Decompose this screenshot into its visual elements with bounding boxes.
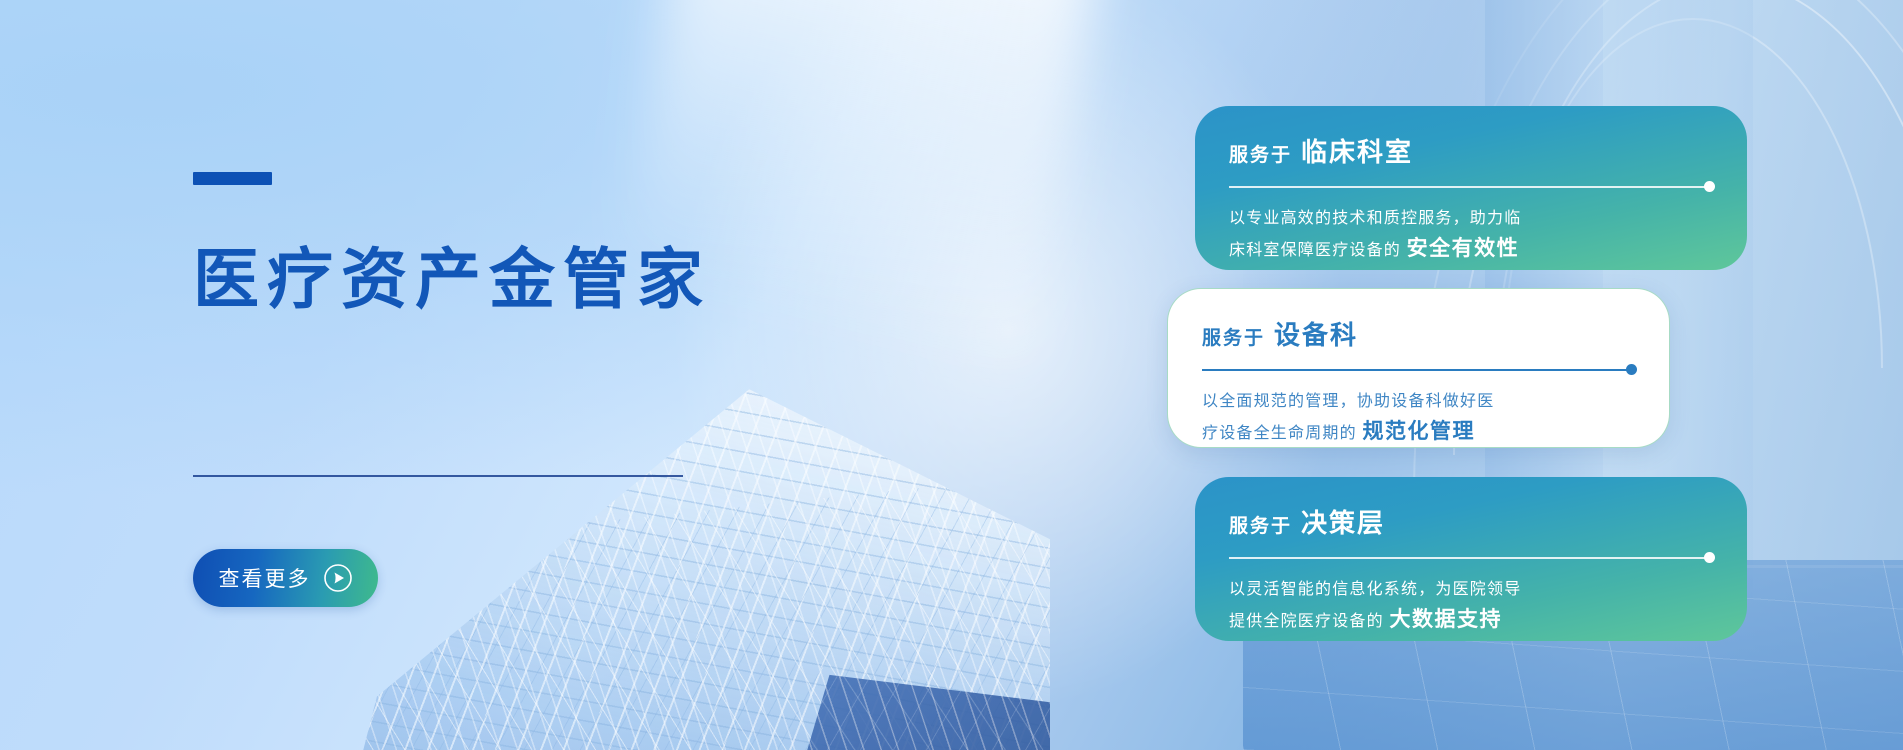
card-target: 设备科 [1274, 315, 1358, 352]
circle-play-arrow-icon [323, 563, 353, 593]
card-description: 以专业高效的技术和质控服务，助力临 床科室保障医疗设备的 安全有效性 [1229, 206, 1715, 266]
card-target: 临床科室 [1301, 132, 1413, 169]
card-desc-line1: 以全面规范的管理，协助设备科做好医 [1202, 393, 1494, 410]
card-desc-line1: 以专业高效的技术和质控服务，助力临 [1229, 210, 1521, 227]
card-desc-highlight: 大数据支持 [1389, 608, 1502, 631]
card-desc-highlight: 安全有效性 [1407, 237, 1520, 260]
service-card-decision[interactable]: 服务于 决策层 以灵活智能的信息化系统，为医院领导 提供全院医疗设备的 大数据支… [1195, 477, 1747, 641]
card-description: 以灵活智能的信息化系统，为医院领导 提供全院医疗设备的 大数据支持 [1229, 577, 1715, 637]
card-rule-dot [1704, 181, 1715, 192]
service-card-clinical[interactable]: 服务于 临床科室 以专业高效的技术和质控服务，助力临 床科室保障医疗设备的 安全… [1195, 106, 1747, 270]
hero-content: 医疗资产金管家 查看更多 [193, 0, 753, 750]
card-description: 以全面规范的管理，协助设备科做好医 疗设备全生命周期的 规范化管理 [1202, 389, 1637, 449]
card-rule-line [1229, 186, 1706, 188]
card-rule [1229, 552, 1715, 563]
card-prefix: 服务于 [1202, 323, 1265, 350]
card-desc-line2: 床科室保障医疗设备的 [1229, 242, 1401, 259]
card-rule-line [1202, 369, 1628, 371]
card-rule-dot [1626, 364, 1637, 375]
page-title: 医疗资产金管家 [193, 240, 711, 319]
card-desc-line2: 疗设备全生命周期的 [1202, 425, 1357, 442]
card-prefix: 服务于 [1229, 140, 1292, 167]
view-more-button[interactable]: 查看更多 [193, 549, 378, 607]
facade-dark-wedge [764, 647, 1050, 750]
card-heading: 服务于 决策层 [1229, 503, 1715, 540]
service-card-equipment[interactable]: 服务于 设备科 以全面规范的管理，协助设备科做好医 疗设备全生命周期的 规范化管… [1167, 288, 1670, 448]
hero-divider [193, 475, 683, 477]
card-desc-line2: 提供全院医疗设备的 [1229, 613, 1384, 630]
card-desc-highlight: 规范化管理 [1362, 420, 1475, 443]
card-target: 决策层 [1301, 503, 1385, 540]
accent-dash-mark [193, 172, 272, 185]
card-rule-line [1229, 557, 1706, 559]
card-rule [1229, 181, 1715, 192]
card-desc-line1: 以灵活智能的信息化系统，为医院领导 [1229, 581, 1521, 598]
card-heading: 服务于 设备科 [1202, 315, 1637, 352]
view-more-label: 查看更多 [219, 563, 311, 593]
card-rule [1202, 364, 1637, 375]
card-heading: 服务于 临床科室 [1229, 132, 1715, 169]
card-rule-dot [1704, 552, 1715, 563]
card-prefix: 服务于 [1229, 511, 1292, 538]
